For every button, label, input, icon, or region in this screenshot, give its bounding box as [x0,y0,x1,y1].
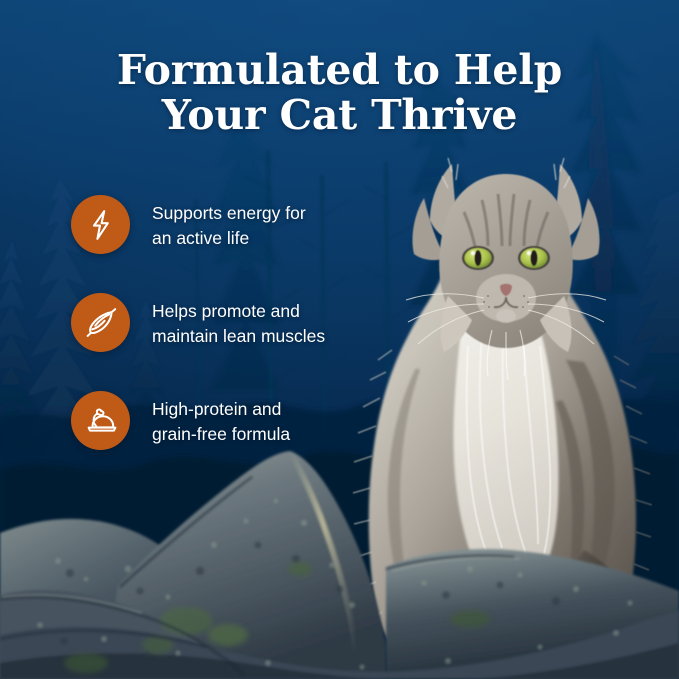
benefit-text: High-protein and grain-free formula [152,390,290,447]
benefit-badge-protein [71,391,130,450]
headline-line-1: Formulated to Help [0,48,679,93]
list-item: Helps promote and maintain lean muscles [71,292,371,390]
benefit-text: Supports energy for an active life [152,194,306,251]
benefits-list: Supports energy for an active life [71,194,371,488]
page-title: Formulated to Help Your Cat Thrive [0,48,679,138]
benefit-badge-muscle [71,293,130,352]
flexed-muscle-icon [83,305,119,341]
headline-line-2: Your Cat Thrive [0,93,679,138]
list-item: Supports energy for an active life [71,194,371,292]
roast-chicken-icon [83,403,119,439]
promo-banner: Formulated to Help Your Cat Thrive Suppo… [0,0,679,679]
lightning-bolt-icon [84,208,118,242]
benefit-text: Helps promote and maintain lean muscles [152,292,325,349]
benefit-badge-energy [71,195,130,254]
list-item: High-protein and grain-free formula [71,390,371,488]
